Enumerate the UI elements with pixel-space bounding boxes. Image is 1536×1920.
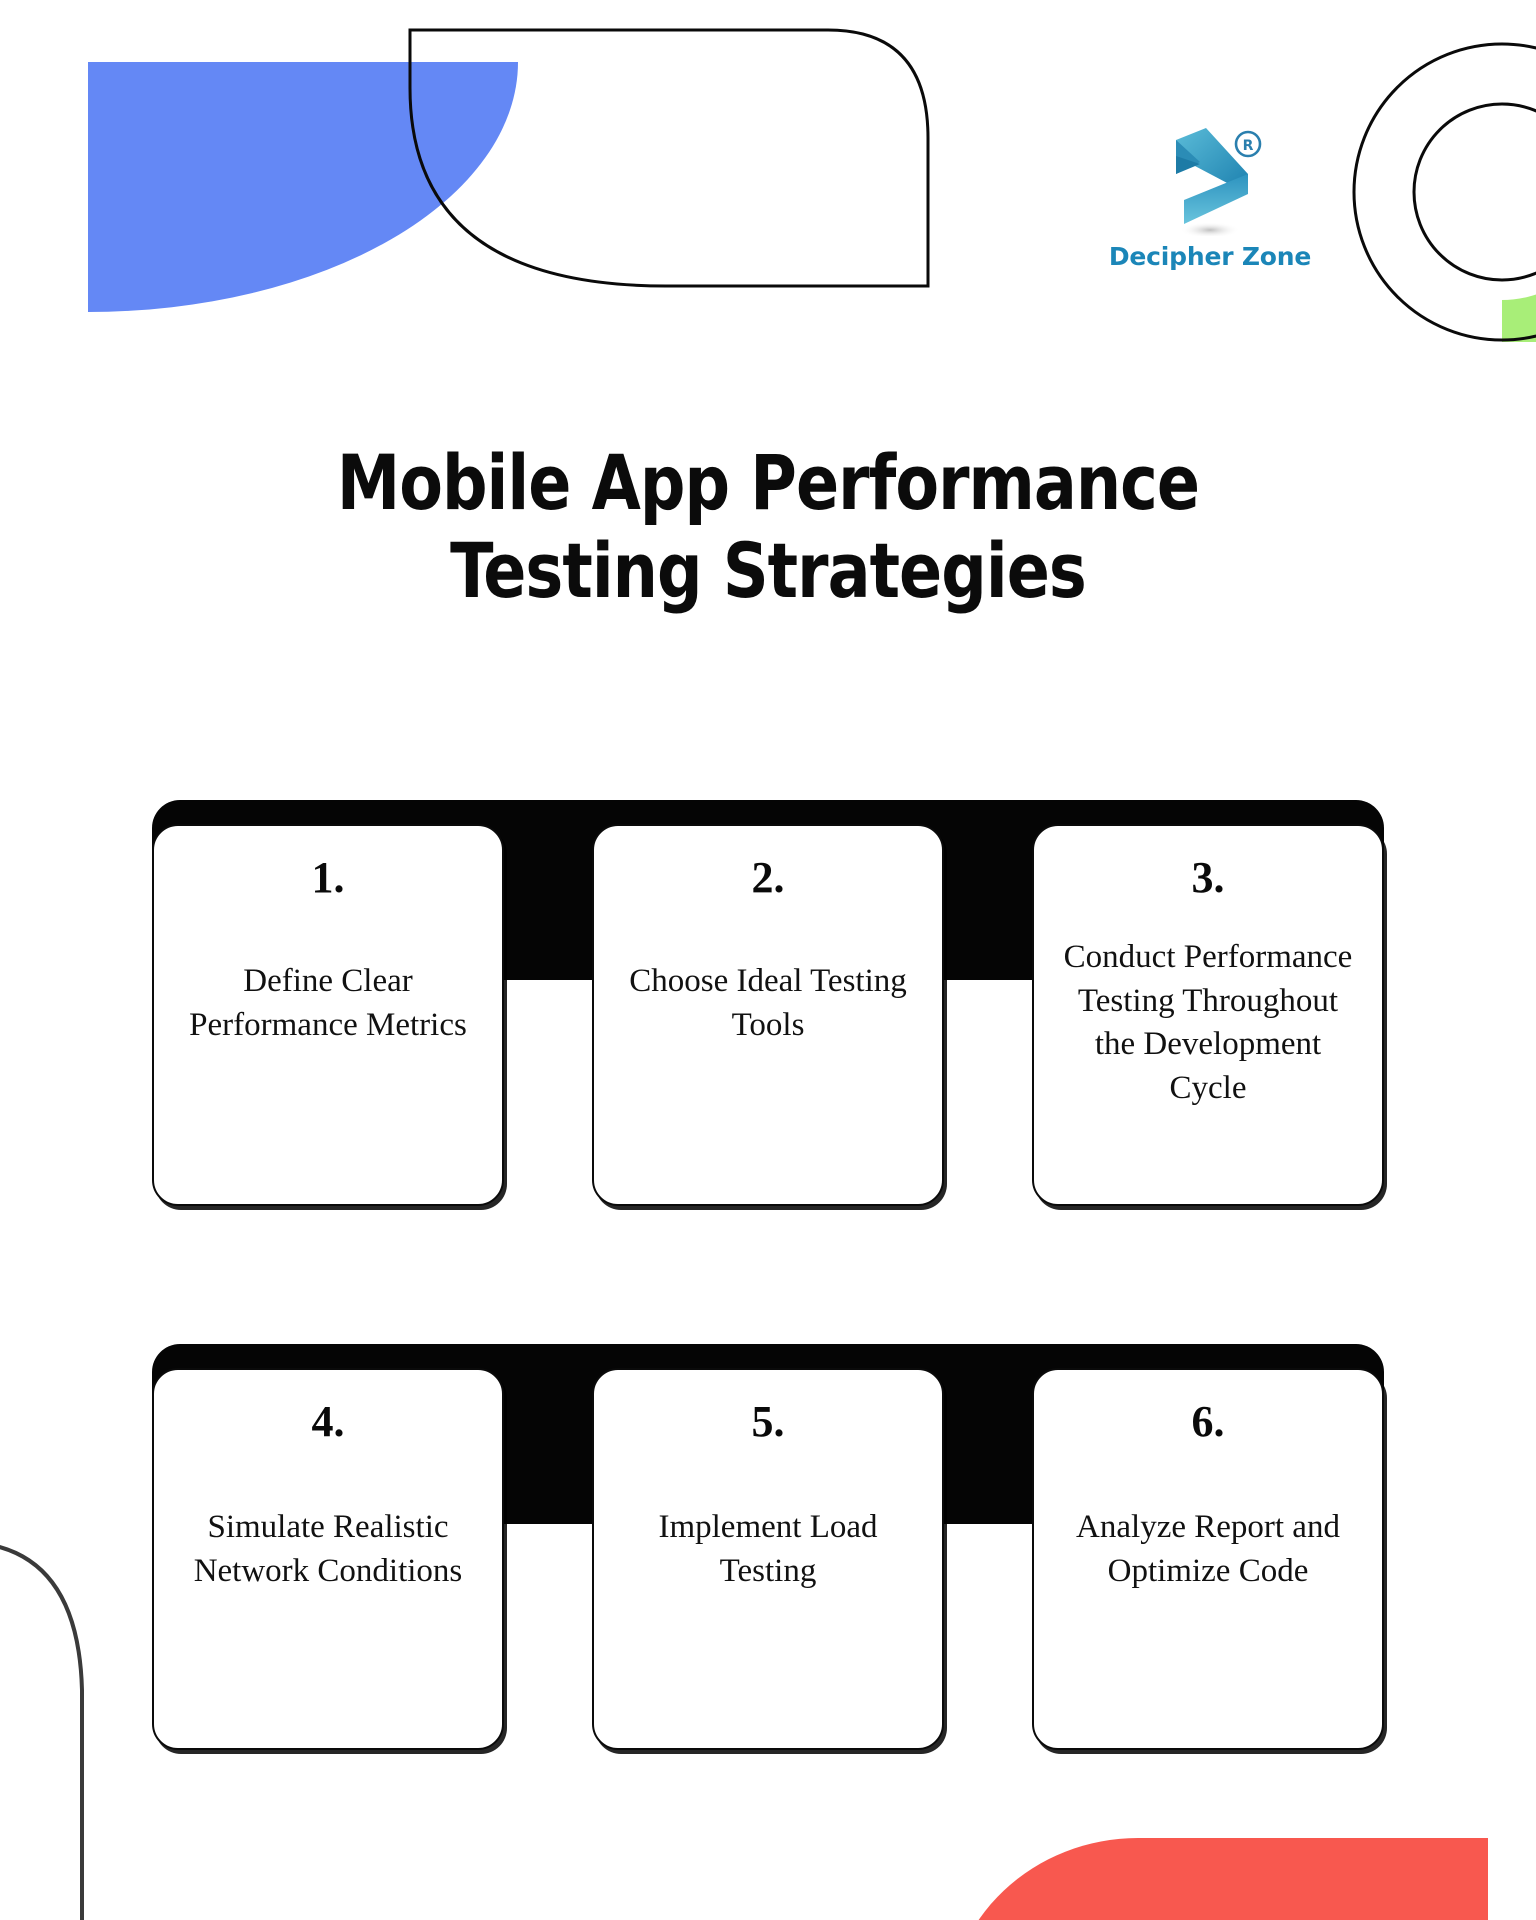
strategy-card-4[interactable]: 4. Simulate Realistic Network Conditions	[152, 1368, 504, 1750]
card-row-1: 1. Define Clear Performance Metrics 2. C…	[152, 800, 1384, 1206]
decipher-zone-ribbon-logo: R	[1154, 118, 1266, 236]
card-row-2: 4. Simulate Realistic Network Conditions…	[152, 1344, 1384, 1750]
card-number: 5.	[612, 1400, 924, 1444]
card-number: 1.	[172, 856, 484, 900]
strategy-card-2[interactable]: 2. Choose Ideal Testing Tools	[592, 824, 944, 1206]
card-number: 4.	[172, 1400, 484, 1444]
strategy-card-3[interactable]: 3. Conduct Performance Testing Throughou…	[1032, 824, 1384, 1206]
card-text: Implement Load Testing	[612, 1506, 924, 1593]
card-text: Choose Ideal Testing Tools	[612, 960, 924, 1047]
brand-logo: R Decipher Zone	[1100, 118, 1320, 271]
donut-ring-shape	[1352, 42, 1536, 342]
card-text: Conduct Performance Testing Throughout t…	[1052, 936, 1364, 1110]
svg-text:R: R	[1243, 138, 1254, 154]
page-title: Mobile App Performance Testing Strategie…	[54, 439, 1482, 615]
bottom-left-curve	[0, 1540, 160, 1920]
infographic-page: R Decipher Zone Mobile App Performance T…	[0, 0, 1536, 1920]
page-title-line-2: Testing Strategies	[54, 527, 1482, 615]
strategy-card-1[interactable]: 1. Define Clear Performance Metrics	[152, 824, 504, 1206]
brand-name: Decipher Zone	[1100, 242, 1320, 271]
strategy-card-6[interactable]: 6. Analyze Report and Optimize Code	[1032, 1368, 1384, 1750]
card-number: 3.	[1052, 856, 1364, 900]
card-number: 2.	[612, 856, 924, 900]
card-text: Analyze Report and Optimize Code	[1052, 1506, 1364, 1593]
outlined-arc-shape	[408, 28, 928, 288]
blue-leaf-shape	[88, 62, 608, 374]
card-number: 6.	[1052, 1400, 1364, 1444]
red-quarter-shape	[948, 1838, 1488, 1920]
strategy-card-5[interactable]: 5. Implement Load Testing	[592, 1368, 944, 1750]
card-text: Simulate Realistic Network Conditions	[172, 1506, 484, 1593]
page-title-line-1: Mobile App Performance	[54, 439, 1482, 527]
card-text: Define Clear Performance Metrics	[172, 960, 484, 1047]
